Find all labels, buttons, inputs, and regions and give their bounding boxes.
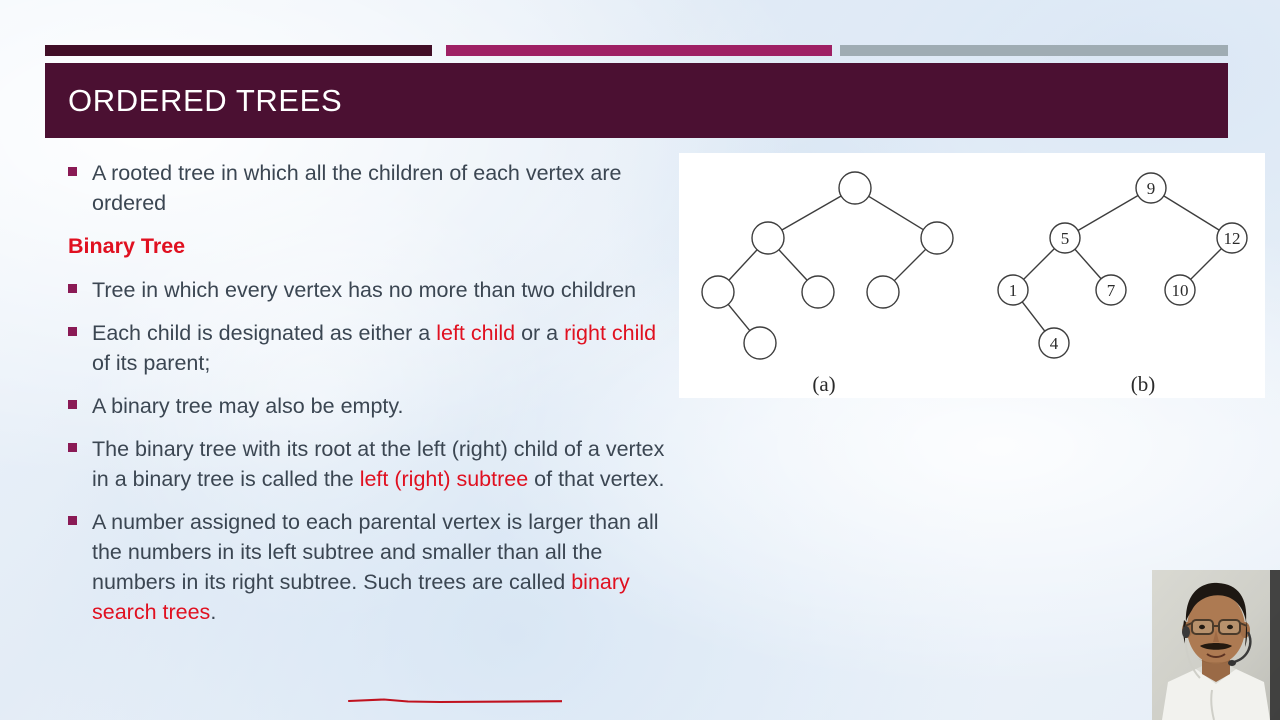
bullet-item-binary-search-trees: A number assigned to each parental verte… (68, 507, 668, 627)
bullet-item-no-more-than-two: Tree in which every vertex has no more t… (68, 275, 668, 305)
tree-node (744, 327, 776, 359)
tree-node (702, 276, 734, 308)
section-heading-label: Binary Tree (68, 231, 668, 261)
tree-node (802, 276, 834, 308)
tree-edge (728, 304, 750, 330)
title-banner: ORDERED TREES (45, 63, 1228, 138)
plain-text: or a (515, 321, 564, 345)
bullet-item-rooted-tree: A rooted tree in which all the children … (68, 158, 668, 218)
bullet-item-left-right-subtree: The binary tree with its root at the lef… (68, 434, 668, 494)
tree-node-label: 4 (1050, 334, 1059, 353)
tree-edge (1078, 196, 1138, 231)
tree-edge (1164, 196, 1219, 230)
accent-bar-gray (840, 45, 1228, 56)
tree-node-label: 1 (1009, 281, 1018, 300)
accent-bar-magenta (446, 45, 832, 56)
handdrawn-underline (348, 697, 562, 707)
tree-node-label: 7 (1107, 281, 1116, 300)
tree-b: 951217104 (998, 173, 1247, 358)
bullet-square-icon (68, 516, 77, 525)
page-title: ORDERED TREES (45, 83, 342, 119)
section-heading-binary-tree-heading: Binary Tree (68, 231, 668, 261)
bullet-square-icon (68, 167, 77, 176)
bullet-square-icon (68, 443, 77, 452)
tree-node (867, 276, 899, 308)
tree-edge (1075, 249, 1101, 279)
accent-phrase: left child (436, 321, 515, 345)
bullet-text: Tree in which every vertex has no more t… (92, 275, 668, 305)
plain-text: of that vertex. (528, 467, 664, 491)
accent-bar-dark (45, 45, 432, 56)
binary-trees-figure: 951217104 (a) (b) (679, 153, 1265, 398)
presenter-portrait (1152, 570, 1280, 720)
tree-edge (782, 196, 841, 230)
tree-edge (1022, 302, 1045, 331)
bullet-text: Each child is designated as either a lef… (92, 318, 668, 378)
bullet-square-icon (68, 284, 77, 293)
tree-edge (1191, 249, 1222, 280)
bullet-square-icon (68, 400, 77, 409)
tree-edge (869, 196, 924, 229)
accent-phrase: right child (564, 321, 656, 345)
plain-text: Tree in which every vertex has no more t… (92, 278, 636, 302)
figure-caption-b: (b) (1131, 372, 1156, 396)
figure-caption-a: (a) (812, 372, 835, 396)
tree-edge (729, 250, 757, 281)
bullet-text: The binary tree with its root at the lef… (92, 434, 668, 494)
tree-node (839, 172, 871, 204)
tree-edge (894, 249, 925, 280)
bullet-item-may-be-empty: A binary tree may also be empty. (68, 391, 668, 421)
tree-a (702, 172, 953, 359)
figure-panel: 951217104 (a) (b) (679, 153, 1265, 398)
plain-text: A binary tree may also be empty. (92, 394, 404, 418)
tree-edge (1024, 249, 1055, 280)
bullet-list: A rooted tree in which all the children … (68, 158, 668, 640)
tree-node (752, 222, 784, 254)
plain-text: A rooted tree in which all the children … (92, 161, 621, 215)
bullet-text: A rooted tree in which all the children … (92, 158, 668, 218)
tree-edge (779, 250, 807, 281)
plain-text: of its parent; (92, 351, 210, 375)
bullet-item-left-right-child: Each child is designated as either a lef… (68, 318, 668, 378)
bullet-square-icon (68, 327, 77, 336)
tree-node-label: 10 (1172, 281, 1189, 300)
presenter-webcam-overlay[interactable] (1152, 570, 1280, 720)
bullet-text: A binary tree may also be empty. (92, 391, 668, 421)
tree-node-label: 9 (1147, 179, 1156, 198)
tree-node-label: 5 (1061, 229, 1070, 248)
plain-text: . (210, 600, 216, 624)
slide-canvas: ORDERED TREES A rooted tree in which all… (0, 0, 1280, 720)
tree-node (921, 222, 953, 254)
tree-node-label: 12 (1224, 229, 1241, 248)
plain-text: Each child is designated as either a (92, 321, 436, 345)
accent-phrase: left (right) subtree (360, 467, 528, 491)
bullet-text: A number assigned to each parental verte… (92, 507, 668, 627)
